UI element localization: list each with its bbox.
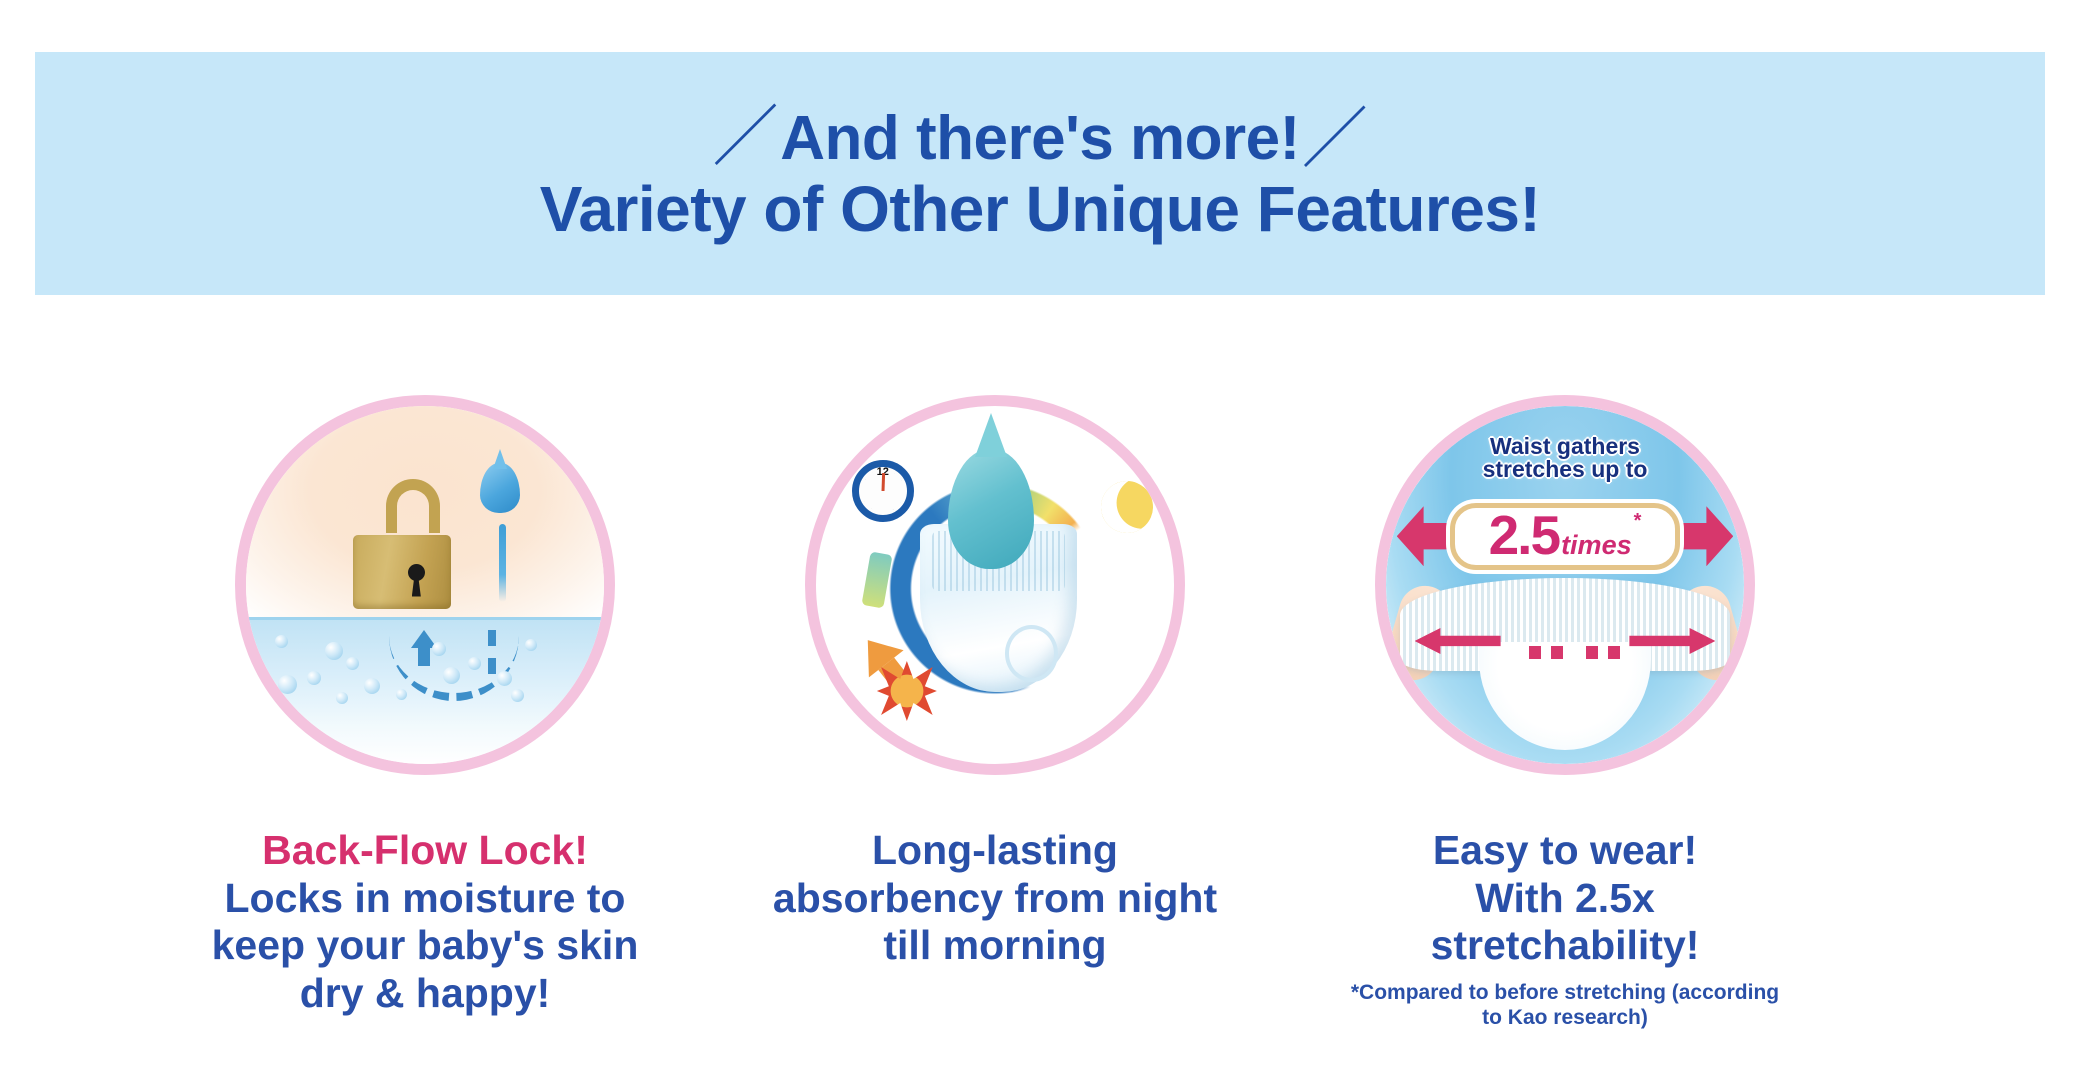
- feature-column-back-flow-lock: Back-Flow Lock! Locks in moisture to kee…: [145, 395, 705, 1031]
- stretch-badge-heading: Waist gathers stretches up to: [1386, 435, 1744, 482]
- bubble-icon: [275, 635, 288, 648]
- banner-line-2: Variety of Other Unique Features!: [540, 176, 1541, 243]
- headline-banner: ＼ And there's more! ／ Variety of Other U…: [35, 52, 2045, 295]
- clock-hand: [881, 473, 885, 491]
- feature-body-line: till morning: [715, 922, 1275, 970]
- feature-body-line: absorbency from night: [715, 875, 1275, 923]
- banner-line-1-text: And there's more!: [780, 106, 1300, 171]
- feature-body-line: stretchability!: [1285, 922, 1845, 970]
- footnote-line: to Kao research): [1285, 1005, 1845, 1031]
- stretch-ratio-badge: 2.5 times *: [1450, 503, 1679, 570]
- icon-circle-frame: [235, 395, 615, 775]
- padlock-keyhole-icon: [408, 564, 425, 581]
- bubble-icon: [346, 657, 359, 670]
- slash-right-decoration: ／: [1302, 104, 1368, 173]
- bubble-icon: [336, 692, 348, 704]
- slash-left-decoration: ＼: [713, 102, 779, 171]
- features-row: Back-Flow Lock! Locks in moisture to kee…: [0, 395, 2089, 1031]
- banner-line-1: ＼ And there's more! ／: [713, 104, 1368, 173]
- padlock-shackle-icon: [386, 479, 440, 533]
- bubble-icon: [497, 671, 512, 686]
- bubble-icon: [525, 639, 537, 651]
- bubble-icon: [307, 671, 321, 685]
- icon-circle-frame: Waist gathers stretches up to 2.5 times …: [1375, 395, 1755, 775]
- feature-title: Back-Flow Lock!: [145, 827, 705, 875]
- feature-body-line: Locks in moisture to: [145, 875, 705, 923]
- bubble-icon: [325, 642, 343, 660]
- stretch-dash-mark: [1551, 646, 1563, 659]
- feature-body-line: keep your baby's skin: [145, 922, 705, 970]
- feature-column-stretchability: Waist gathers stretches up to 2.5 times …: [1285, 395, 1845, 1031]
- footnote-line: *Compared to before stretching (accordin…: [1285, 980, 1845, 1006]
- stretch-dash-mark: [1529, 646, 1541, 659]
- icon-circle-frame: 12: [805, 395, 1185, 775]
- infographic-page: ＼ And there's more! ／ Variety of Other U…: [0, 0, 2089, 1070]
- clock-icon: 12: [852, 460, 914, 522]
- stretch-ratio-asterisk: *: [1634, 510, 1642, 533]
- stretch-badge-heading-line-1: Waist gathers: [1386, 435, 1744, 458]
- padlock-body-icon: [353, 535, 451, 609]
- stretch-badge-heading-line-2: stretches up to: [1386, 458, 1744, 481]
- bubble-icon: [468, 657, 481, 670]
- feature-caption: Back-Flow Lock! Locks in moisture to kee…: [145, 827, 705, 1017]
- feature-caption: Long-lasting absorbency from night till …: [715, 827, 1275, 970]
- long-lasting-absorbency-icon: 12: [805, 395, 1185, 775]
- bubble-icon: [278, 675, 297, 694]
- sun-rays: [877, 661, 937, 721]
- feature-body-line: dry & happy!: [145, 970, 705, 1018]
- droplet-trail-icon: [499, 524, 506, 602]
- stretchability-icon: Waist gathers stretches up to 2.5 times …: [1375, 395, 1755, 775]
- stretch-dash-mark: [1586, 646, 1598, 659]
- surface-line: [246, 617, 604, 620]
- sun-icon: [877, 661, 937, 721]
- feature-body-line: Long-lasting: [715, 827, 1275, 875]
- bubble-icon: [511, 689, 524, 702]
- feature-body-line: With 2.5x: [1285, 875, 1845, 923]
- stretch-dash-mark: [1608, 646, 1620, 659]
- feature-column-long-lasting: 12 Long-lasting absorbency from night ti…: [715, 395, 1275, 1031]
- feature-body-line: Easy to wear!: [1285, 827, 1845, 875]
- stretch-ratio-number: 2.5: [1489, 510, 1559, 561]
- feature-footnote: *Compared to before stretching (accordin…: [1285, 980, 1845, 1031]
- back-flow-lock-icon: [235, 395, 615, 775]
- feature-caption: Easy to wear! With 2.5x stretchability! …: [1285, 827, 1845, 1031]
- stretch-ratio-unit: times: [1561, 530, 1632, 561]
- dashed-flow-arc-right-icon: [488, 630, 496, 674]
